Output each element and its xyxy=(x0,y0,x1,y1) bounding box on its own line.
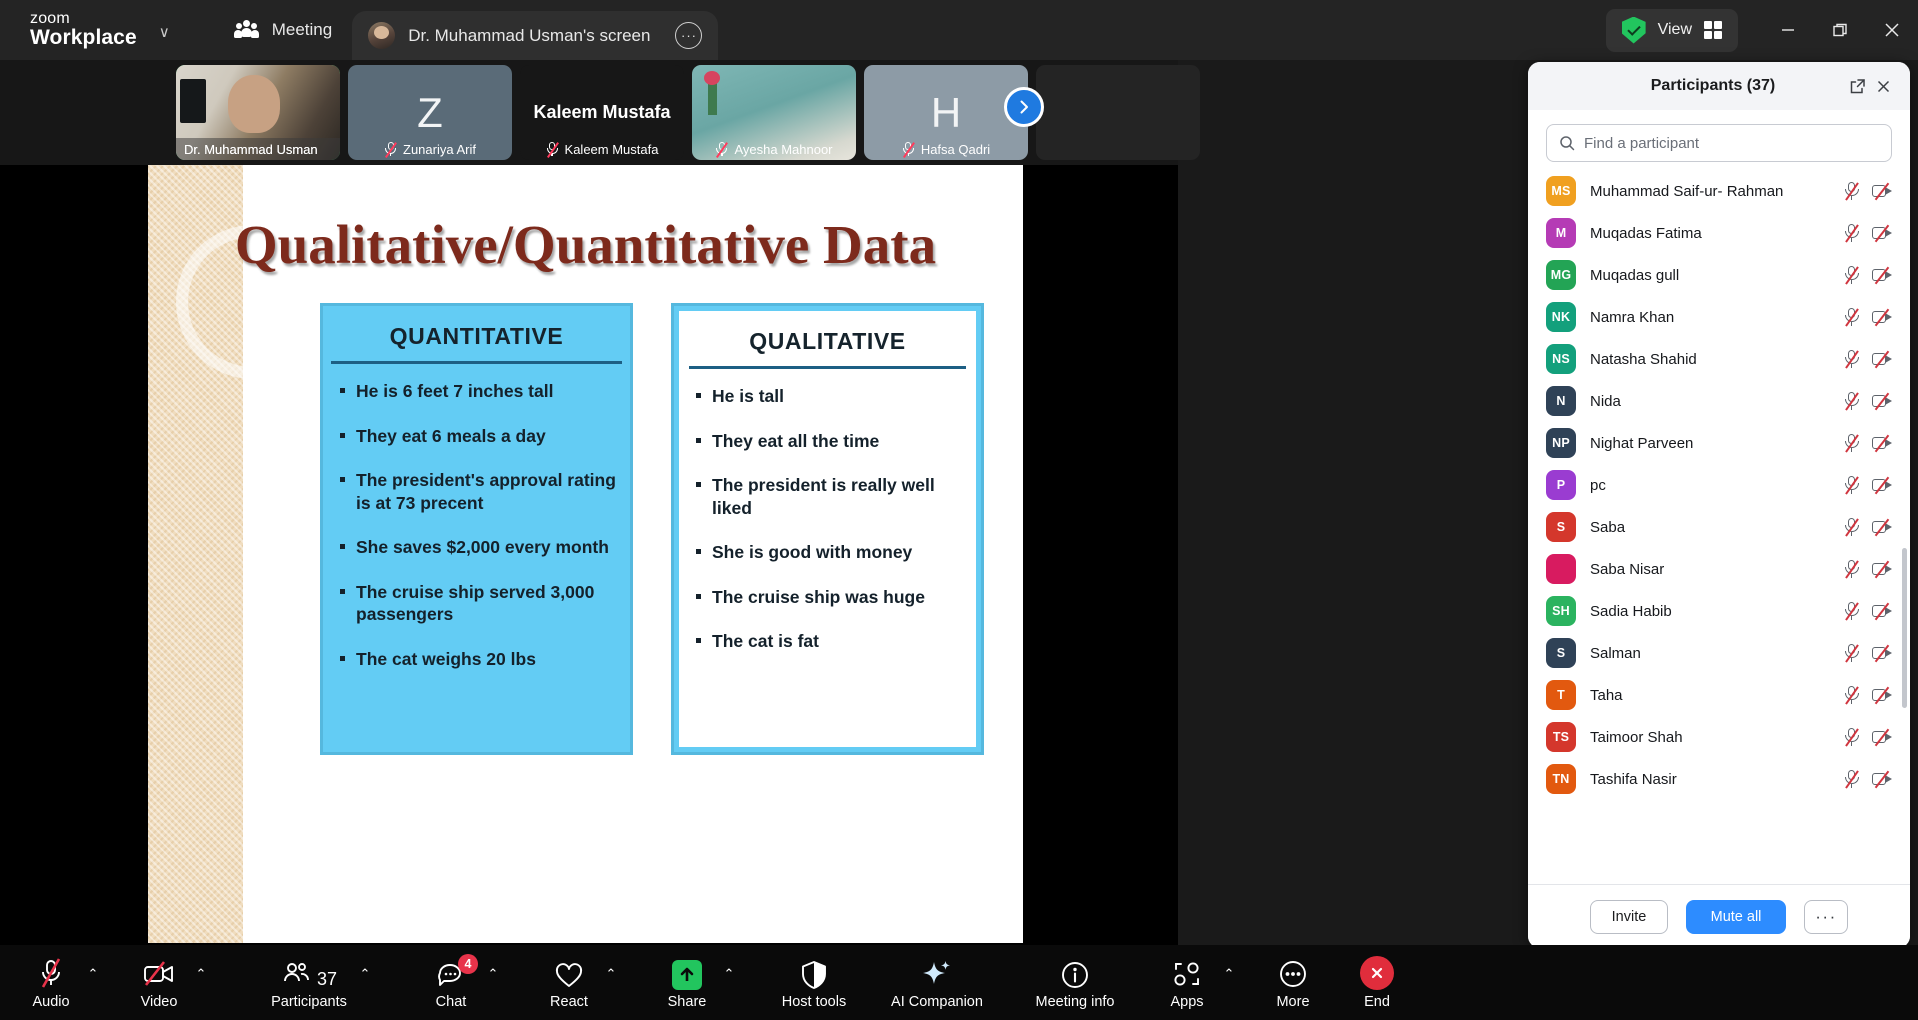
mic-muted-icon xyxy=(546,142,559,157)
apps-button[interactable]: Apps xyxy=(1158,945,1216,1020)
participant-avatar: S xyxy=(1546,638,1576,668)
participant-row[interactable]: Ppc xyxy=(1528,464,1910,506)
tile-label-0: Dr. Muhammad Usman xyxy=(176,138,340,160)
participants-caret-icon[interactable]: ⌃ xyxy=(352,945,378,1020)
list-item: The cruise ship was huge xyxy=(695,586,962,609)
chat-button[interactable]: 4 Chat xyxy=(422,945,480,1020)
apps-caret-icon[interactable]: ⌃ xyxy=(1216,945,1242,1020)
participant-avatar: N xyxy=(1546,386,1576,416)
column-heading-quantitative: QUANTITATIVE xyxy=(331,306,622,364)
share-screen-icon xyxy=(672,956,702,990)
tab-shared-screen-label: Dr. Muhammad Usman's screen xyxy=(408,26,650,46)
zoom-logo: zoom Workplace xyxy=(30,11,137,49)
meeting-info-button[interactable]: Meeting info xyxy=(1022,945,1128,1020)
participant-status-icons xyxy=(1843,644,1894,662)
list-item: She saves $2,000 every month xyxy=(339,536,616,559)
participant-name: Muhammad Saif-ur- Rahman xyxy=(1590,183,1829,200)
list-item: They eat all the time xyxy=(695,430,962,453)
list-item: She is good with money xyxy=(695,541,962,564)
camera-muted-icon[interactable] xyxy=(1872,351,1894,367)
react-button[interactable]: React xyxy=(540,945,598,1020)
host-tools-label: Host tools xyxy=(782,994,846,1010)
participants-icon: 37 xyxy=(281,956,337,990)
avatar xyxy=(368,22,395,49)
end-button[interactable]: End xyxy=(1348,945,1406,1020)
column-heading-qualitative: QUALITATIVE xyxy=(689,311,966,369)
participant-row[interactable]: MSMuhammad Saif-ur- Rahman xyxy=(1528,170,1910,212)
participant-status-icons xyxy=(1843,686,1894,704)
list-item: The cruise ship served 3,000 passengers xyxy=(339,581,616,626)
participant-row[interactable]: SSaba xyxy=(1528,506,1910,548)
filmstrip-name-row: Dr. Muhammad Usman Zunariya Arif Kaleem … xyxy=(176,138,1028,160)
minimize-button[interactable] xyxy=(1762,0,1814,60)
participant-avatar: MG xyxy=(1546,260,1576,290)
participants-more-button[interactable]: ··· xyxy=(1804,900,1848,934)
zoom-logo-line2: Workplace xyxy=(30,27,137,48)
participant-row[interactable]: MGMuqadas gull xyxy=(1528,254,1910,296)
chat-label: Chat xyxy=(436,994,467,1010)
participant-status-icons xyxy=(1843,182,1894,200)
participant-status-icons xyxy=(1843,728,1894,746)
window-controls-group: View xyxy=(1606,0,1918,60)
share-label: Share xyxy=(668,994,707,1010)
mic-muted-icon[interactable] xyxy=(1843,392,1860,410)
participant-name: Natasha Shahid xyxy=(1590,351,1829,368)
share-button[interactable]: Share xyxy=(658,945,716,1020)
video-button[interactable]: Video xyxy=(130,945,188,1020)
tile-name-0: Dr. Muhammad Usman xyxy=(184,142,318,157)
tile-label-1: Zunariya Arif xyxy=(348,138,512,160)
react-group: React ⌃ xyxy=(540,945,624,1020)
camera-muted-icon[interactable] xyxy=(1872,477,1894,493)
chat-group: 4 Chat ⌃ xyxy=(422,945,506,1020)
microphone-muted-icon xyxy=(36,956,66,990)
participant-avatar: NS xyxy=(1546,344,1576,374)
camera-muted-icon[interactable] xyxy=(1872,561,1894,577)
slide-column-quantitative: QUANTITATIVE He is 6 feet 7 inches tall … xyxy=(320,303,633,755)
participant-name: Saba xyxy=(1590,519,1829,536)
camera-muted-icon[interactable] xyxy=(1872,435,1894,451)
participant-row[interactable]: TTaha xyxy=(1528,674,1910,716)
participant-status-icons xyxy=(1843,224,1894,242)
slide-title: Qualitative/Quantitative Data xyxy=(148,213,1023,276)
participant-name: Namra Khan xyxy=(1590,309,1829,326)
apps-label: Apps xyxy=(1170,994,1203,1010)
video-tile-5[interactable] xyxy=(1036,65,1200,160)
tile-name-1: Zunariya Arif xyxy=(403,142,476,157)
participant-row[interactable]: SHSadia Habib xyxy=(1528,590,1910,632)
mute-all-button[interactable]: Mute all xyxy=(1686,900,1786,934)
slide-decor-band xyxy=(148,165,243,943)
mic-muted-icon[interactable] xyxy=(1843,434,1860,452)
view-button[interactable]: View xyxy=(1606,9,1738,52)
participants-label: Participants xyxy=(271,994,347,1010)
title-bar: zoom Workplace ∨ Meeting Dr. Muhammad Us… xyxy=(0,0,1918,60)
slide-column-qualitative: QUALITATIVE He is tall They eat all the … xyxy=(671,303,984,755)
tab-meeting[interactable]: Meeting xyxy=(214,0,352,60)
list-item: The cat weighs 20 lbs xyxy=(339,648,616,671)
camera-muted-icon[interactable] xyxy=(1872,393,1894,409)
participant-avatar: NK xyxy=(1546,302,1576,332)
shared-screen-stage: Qualitative/Quantitative Data QUANTITATI… xyxy=(0,165,1178,945)
invite-button[interactable]: Invite xyxy=(1590,900,1668,934)
participant-name: Taimoor Shah xyxy=(1590,729,1829,746)
shield-icon xyxy=(800,956,828,990)
participant-avatar xyxy=(1546,554,1576,584)
mic-muted-icon[interactable] xyxy=(1843,686,1860,704)
info-icon xyxy=(1060,956,1090,990)
search-icon xyxy=(1559,135,1575,151)
participant-row[interactable]: TSTaimoor Shah xyxy=(1528,716,1910,758)
view-label: View xyxy=(1658,21,1692,39)
ai-companion-label: AI Companion xyxy=(891,994,983,1010)
audio-group: Audio ⌃ xyxy=(22,945,106,1020)
shield-check-icon xyxy=(1622,17,1646,44)
host-tools-group: Host tools xyxy=(776,945,852,1020)
tile-name-3: Ayesha Mahnoor xyxy=(734,142,832,157)
mic-muted-icon[interactable] xyxy=(1843,182,1860,200)
mic-muted-icon[interactable] xyxy=(1843,644,1860,662)
tile-label-2: Kaleem Mustafa xyxy=(520,138,684,160)
participant-status-icons xyxy=(1843,476,1894,494)
apps-group: Apps ⌃ xyxy=(1158,945,1242,1020)
layout-grid-icon xyxy=(1704,21,1722,39)
participant-name: Saba Nisar xyxy=(1590,561,1829,578)
end-label: End xyxy=(1364,994,1390,1010)
video-filmstrip: Dr. Muhammad Usman Z Kaleem Mustafa H Dr… xyxy=(0,60,1178,165)
close-button[interactable] xyxy=(1866,0,1918,60)
participant-status-icons xyxy=(1843,602,1894,620)
mic-muted-icon xyxy=(902,142,915,157)
participant-avatar: S xyxy=(1546,512,1576,542)
participants-search-wrapper xyxy=(1528,110,1910,168)
participants-group: 37 Participants ⌃ xyxy=(266,945,378,1020)
column-list-qualitative: He is tall They eat all the time The pre… xyxy=(695,385,962,653)
camera-muted-icon[interactable] xyxy=(1872,603,1894,619)
mic-muted-icon xyxy=(384,142,397,157)
end-group: End xyxy=(1348,945,1406,1020)
participant-avatar: MS xyxy=(1546,176,1576,206)
participants-panel: Participants (37) xyxy=(1528,62,1910,948)
mic-muted-icon[interactable] xyxy=(1843,518,1860,536)
ai-companion-group: AI Companion xyxy=(882,945,992,1020)
participant-name: Muqadas gull xyxy=(1590,267,1829,284)
participant-avatar: T xyxy=(1546,680,1576,710)
video-label: Video xyxy=(141,994,178,1010)
audio-caret-icon[interactable]: ⌃ xyxy=(80,945,106,1020)
close-icon[interactable] xyxy=(1870,73,1896,99)
react-label: React xyxy=(550,994,588,1010)
mic-muted-icon[interactable] xyxy=(1843,560,1860,578)
participant-row[interactable]: NNida xyxy=(1528,380,1910,422)
share-caret-icon[interactable]: ⌃ xyxy=(716,945,742,1020)
participant-name: Tashifa Nasir xyxy=(1590,771,1829,788)
participant-row[interactable]: TNTashifa Nasir xyxy=(1528,758,1910,800)
participant-row[interactable]: MMuqadas Fatima xyxy=(1528,212,1910,254)
camera-muted-icon[interactable] xyxy=(1872,645,1894,661)
more-group: More xyxy=(1264,945,1322,1020)
popout-icon[interactable] xyxy=(1844,73,1870,99)
participant-avatar: NP xyxy=(1546,428,1576,458)
camera-muted-icon[interactable] xyxy=(1872,183,1894,199)
camera-muted-icon[interactable] xyxy=(1872,771,1894,787)
participant-status-icons xyxy=(1843,266,1894,284)
tab-shared-screen[interactable]: Dr. Muhammad Usman's screen ··· xyxy=(352,11,718,60)
video-caret-icon[interactable]: ⌃ xyxy=(188,945,214,1020)
restore-button[interactable] xyxy=(1814,0,1866,60)
heart-icon xyxy=(554,956,584,990)
participants-panel-header: Participants (37) xyxy=(1528,62,1910,110)
participant-avatar: SH xyxy=(1546,596,1576,626)
camera-muted-icon[interactable] xyxy=(1872,687,1894,703)
participant-row[interactable]: NSNatasha Shahid xyxy=(1528,338,1910,380)
react-caret-icon[interactable]: ⌃ xyxy=(598,945,624,1020)
participant-name: Taha xyxy=(1590,687,1829,704)
mic-muted-icon[interactable] xyxy=(1843,308,1860,326)
list-item: He is 6 feet 7 inches tall xyxy=(339,380,616,403)
filmstrip-next-button[interactable] xyxy=(1004,87,1044,127)
people-icon xyxy=(234,20,259,40)
participant-status-icons xyxy=(1843,770,1894,788)
tile-name-4: Hafsa Qadri xyxy=(921,142,990,157)
mic-muted-icon[interactable] xyxy=(1843,476,1860,494)
ellipsis-icon xyxy=(1277,956,1309,990)
meeting-info-group: Meeting info xyxy=(1022,945,1128,1020)
zoom-logo-line1: zoom xyxy=(30,11,137,27)
list-item: The president is really well liked xyxy=(695,474,962,519)
participant-avatar: TS xyxy=(1546,722,1576,752)
participant-row[interactable]: NPNighat Parveen xyxy=(1528,422,1910,464)
apps-icon xyxy=(1171,956,1203,990)
meeting-info-label: Meeting info xyxy=(1036,994,1115,1010)
tile-label-4: Hafsa Qadri xyxy=(864,138,1028,160)
participant-name: pc xyxy=(1590,477,1829,494)
camera-muted-icon[interactable] xyxy=(1872,729,1894,745)
audio-button[interactable]: Audio xyxy=(22,945,80,1020)
participant-status-icons xyxy=(1843,350,1894,368)
zoom-app-window: zoom Workplace ∨ Meeting Dr. Muhammad Us… xyxy=(0,0,1918,1020)
list-item: They eat 6 meals a day xyxy=(339,425,616,448)
participant-status-icons xyxy=(1843,392,1894,410)
shared-slide: Qualitative/Quantitative Data QUANTITATI… xyxy=(148,165,1023,943)
camera-muted-icon[interactable] xyxy=(1872,225,1894,241)
participants-button[interactable]: 37 Participants xyxy=(266,945,352,1020)
participants-panel-title: Participants (37) xyxy=(1542,77,1844,95)
mic-muted-icon[interactable] xyxy=(1843,266,1860,284)
participants-scrollbar[interactable] xyxy=(1902,548,1907,708)
participant-name: Nida xyxy=(1590,393,1829,410)
participant-status-icons xyxy=(1843,560,1894,578)
mic-muted-icon[interactable] xyxy=(1843,224,1860,242)
participant-name: Salman xyxy=(1590,645,1829,662)
more-button[interactable]: More xyxy=(1264,945,1322,1020)
participant-row[interactable]: NKNamra Khan xyxy=(1528,296,1910,338)
more-label: More xyxy=(1276,994,1309,1010)
participant-row[interactable]: Saba Nisar xyxy=(1528,548,1910,590)
video-group: Video ⌃ xyxy=(130,945,214,1020)
camera-muted-icon[interactable] xyxy=(1872,309,1894,325)
window-tabs: Meeting Dr. Muhammad Usman's screen ··· xyxy=(214,0,719,60)
tab-meeting-label: Meeting xyxy=(272,20,332,40)
participant-status-icons xyxy=(1843,308,1894,326)
chevron-down-icon[interactable]: ∨ xyxy=(159,23,170,41)
participant-avatar: P xyxy=(1546,470,1576,500)
tile-label-3: Ayesha Mahnoor xyxy=(692,138,856,160)
participant-status-icons xyxy=(1843,518,1894,536)
host-tools-button[interactable]: Host tools xyxy=(776,945,852,1020)
mic-muted-icon xyxy=(715,142,728,157)
participant-avatar: M xyxy=(1546,218,1576,248)
participant-status-icons xyxy=(1843,434,1894,452)
end-call-icon xyxy=(1360,956,1394,990)
camera-muted-icon[interactable] xyxy=(1872,267,1894,283)
participants-list[interactable]: MSMuhammad Saif-ur- RahmanMMuqadas Fatim… xyxy=(1528,168,1910,884)
participants-panel-footer: Invite Mute all ··· xyxy=(1528,884,1910,948)
list-item: The cat is fat xyxy=(695,630,962,653)
participants-count: 37 xyxy=(317,969,337,990)
mic-muted-icon[interactable] xyxy=(1843,770,1860,788)
share-group: Share ⌃ xyxy=(658,945,742,1020)
participant-name: Nighat Parveen xyxy=(1590,435,1829,452)
tile-name-2: Kaleem Mustafa xyxy=(565,142,659,157)
list-item: The president's approval rating is at 73… xyxy=(339,469,616,514)
search-input[interactable] xyxy=(1584,135,1879,152)
participant-name: Muqadas Fatima xyxy=(1590,225,1829,242)
search-box[interactable] xyxy=(1546,124,1892,162)
mic-muted-icon[interactable] xyxy=(1843,602,1860,620)
column-list-quantitative: He is 6 feet 7 inches tall They eat 6 me… xyxy=(339,380,616,671)
participant-name: Sadia Habib xyxy=(1590,603,1829,620)
chat-caret-icon[interactable]: ⌃ xyxy=(480,945,506,1020)
participant-row[interactable]: SSalman xyxy=(1528,632,1910,674)
camera-muted-icon xyxy=(142,956,176,990)
meeting-toolbar: Audio ⌃ Video ⌃ xyxy=(0,945,1918,1020)
sparkle-icon xyxy=(921,956,953,990)
tab-more-icon[interactable]: ··· xyxy=(675,22,702,49)
audio-label: Audio xyxy=(32,994,69,1010)
mic-muted-icon[interactable] xyxy=(1843,728,1860,746)
slide-columns: QUANTITATIVE He is 6 feet 7 inches tall … xyxy=(320,303,984,755)
camera-muted-icon[interactable] xyxy=(1872,519,1894,535)
chat-unread-badge: 4 xyxy=(458,954,478,974)
ai-companion-button[interactable]: AI Companion xyxy=(882,945,992,1020)
list-item: He is tall xyxy=(695,385,962,408)
mic-muted-icon[interactable] xyxy=(1843,350,1860,368)
participant-avatar: TN xyxy=(1546,764,1576,794)
